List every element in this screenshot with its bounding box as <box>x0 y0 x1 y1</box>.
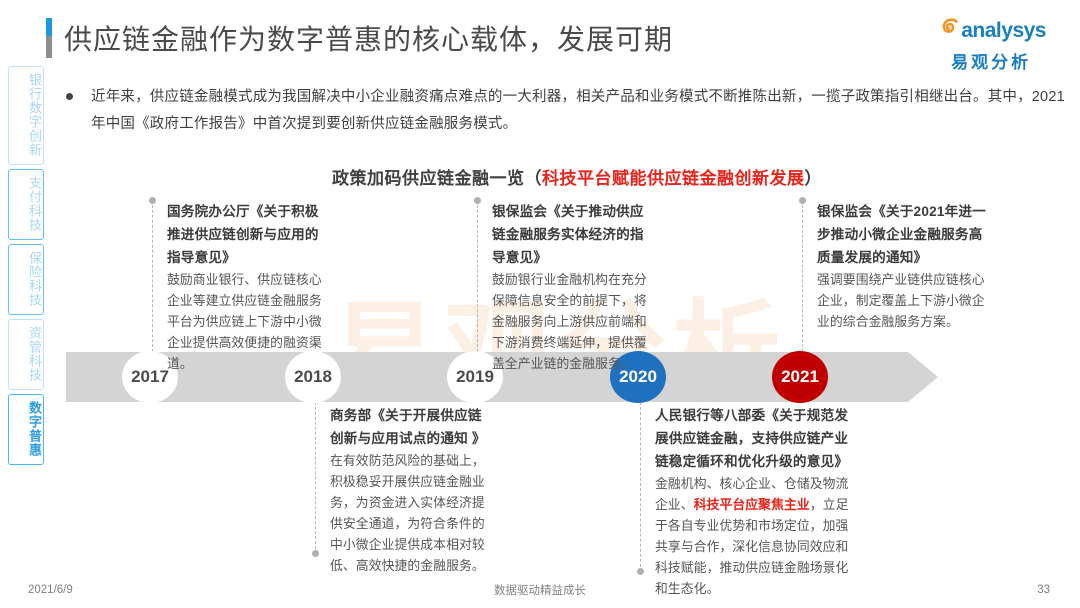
policy-entry-body: 鼓励商业银行、供应链核心企业等建立供应链金融服务平台为供应链上下游中小微企业提供… <box>167 269 329 374</box>
page-title-text: 供应链金融作为数字普惠的核心载体，发展可期 <box>64 18 673 58</box>
sidebar-item-label: 支付科技 <box>9 176 43 232</box>
connector-dot-icon <box>149 197 156 204</box>
connector-dot-icon <box>637 568 644 575</box>
sidebar-item-label: 资管科技 <box>9 326 43 382</box>
policy-entry-body: 在有效防范风险的基础上，积极稳妥开展供应链金融业务，为资金进入实体经济提供安全通… <box>330 450 490 576</box>
connector-2019 <box>477 200 478 352</box>
sidebar-item-bank-digital-innovation[interactable]: 银行数字创新 <box>8 66 44 165</box>
section-subtitle-main: 政策加码供应链金融一览（ <box>332 169 542 188</box>
policy-entry-2020: 人民银行等八部委《关于规范发展供应链金融，支持供应链产业链稳定循环和优化升级的意… <box>655 404 855 599</box>
title-accent-bar <box>46 18 52 58</box>
section-subtitle-tail: ） <box>805 169 823 188</box>
footer-page-number: 33 <box>1037 584 1050 596</box>
brand-logo: analysys 易观分析 <box>936 16 1046 73</box>
policy-entry-body: 鼓励银行业金融机构在充分保障信息安全的前提下，将金融服务向上游供应前端和下游消费… <box>492 269 652 374</box>
connector-dot-icon <box>312 550 319 557</box>
bullet-dot-icon <box>66 93 73 100</box>
sidebar-item-asset-management-tech[interactable]: 资管科技 <box>8 319 44 390</box>
sidebar-item-label: 数字普惠 <box>9 401 43 457</box>
policy-entry-body-mixed: 金融机构、核心企业、仓储及物流企业、科技平台应聚焦主业，立足于各自专业优势和市场… <box>655 473 855 599</box>
sidebar-item-label: 保险科技 <box>9 251 43 307</box>
timeline-year-label: 2017 <box>131 367 169 387</box>
policy-entry-title: 商务部《关于开展供应链创新与应用试点的通知 》 <box>330 404 490 450</box>
policy-entry-2021: 银保监会《关于2021年进一步推动小微企业金融服务高质量发展的通知》 强调要围绕… <box>817 200 989 332</box>
connector-dot-icon <box>799 197 806 204</box>
policy-entry-title: 人民银行等八部委《关于规范发展供应链金融，支持供应链产业链稳定循环和优化升级的意… <box>655 404 855 473</box>
sidebar-item-digital-inclusive-finance[interactable]: 数字普惠 <box>8 394 44 465</box>
connector-dot-icon <box>474 197 481 204</box>
footer-slogan: 数据驱动精益成长 <box>0 582 1080 598</box>
sidebar-item-label: 银行数字创新 <box>9 73 43 157</box>
connector-2020 <box>640 402 641 572</box>
timeline-year-label: 2021 <box>781 367 819 387</box>
section-subtitle-highlight: 科技平台赋能供应链金融创新发展 <box>542 169 805 188</box>
policy-entry-2017: 国务院办公厅《关于积极推进供应链创新与应用的指导意见》 鼓励商业银行、供应链核心… <box>167 200 329 374</box>
analysys-swirl-icon <box>936 16 960 45</box>
policy-entry-2019: 银保监会《关于推动供应链金融服务实体经济的指导意见》 鼓励银行业金融机构在充分保… <box>492 200 652 374</box>
timeline-year-label: 2019 <box>456 367 494 387</box>
policy-entry-title: 银保监会《关于推动供应链金融服务实体经济的指导意见》 <box>492 200 652 269</box>
policy-entry-2018: 商务部《关于开展供应链创新与应用试点的通知 》 在有效防范风险的基础上，积极稳妥… <box>330 404 490 576</box>
policy-entry-body: 强调要围绕产业链供应链核心企业，制定覆盖上下游小微企业的综合金融服务方案。 <box>817 269 989 332</box>
timeline-year-2021[interactable]: 2021 <box>772 351 828 403</box>
connector-2018 <box>315 402 316 554</box>
slide-root: 易观分析 供应链金融作为数字普惠的核心载体，发展可期 analysys 易观分析… <box>0 0 1080 608</box>
footer: 2021/6/9 数据驱动精益成长 33 <box>0 582 1080 598</box>
page-title: 供应链金融作为数字普惠的核心载体，发展可期 <box>46 18 673 58</box>
sidebar: 银行数字创新 支付科技 保险科技 资管科技 数字普惠 <box>8 66 44 469</box>
intro-bullet-text: 近年来，供应链金融模式成为我国解决中小企业融资痛点难点的一大利器，相关产品和业务… <box>91 84 1066 138</box>
intro-bullet: 近年来，供应链金融模式成为我国解决中小企业融资痛点难点的一大利器，相关产品和业务… <box>66 84 1066 138</box>
policy-entry-body-highlight: 科技平台应聚焦主业 <box>694 497 810 512</box>
logo-chinese-name: 易观分析 <box>936 48 1046 73</box>
footer-date: 2021/6/9 <box>28 584 73 596</box>
section-subtitle: 政策加码供应链金融一览（科技平台赋能供应链金融创新发展） <box>332 164 822 189</box>
policy-entry-title: 国务院办公厅《关于积极推进供应链创新与应用的指导意见》 <box>167 200 329 269</box>
policy-entry-title: 银保监会《关于2021年进一步推动小微企业金融服务高质量发展的通知》 <box>817 200 989 269</box>
logo-wordmark: analysys <box>961 20 1046 41</box>
sidebar-item-payment-tech[interactable]: 支付科技 <box>8 169 44 240</box>
sidebar-item-insurance-tech[interactable]: 保险科技 <box>8 244 44 315</box>
connector-2017 <box>152 200 153 352</box>
connector-2021 <box>802 200 803 352</box>
